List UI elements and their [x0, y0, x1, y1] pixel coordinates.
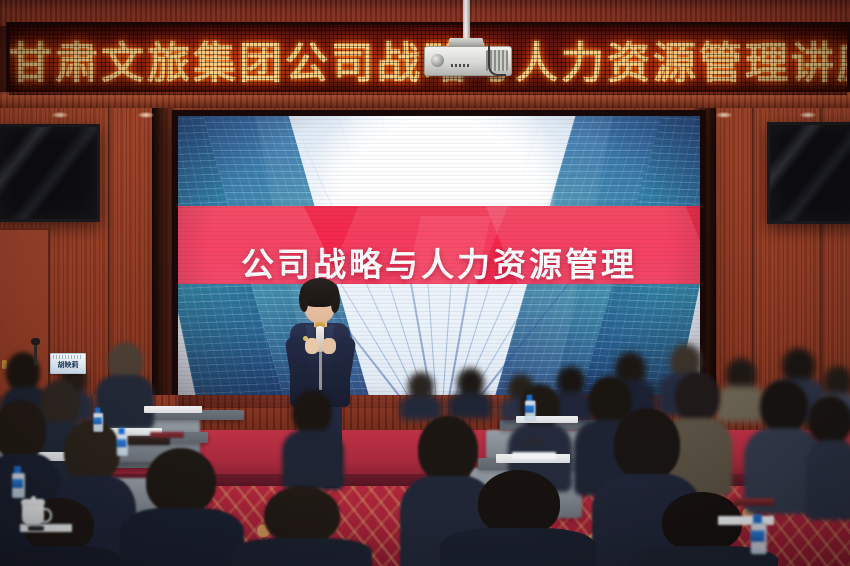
wall-monitor-left — [0, 124, 100, 222]
notebook — [150, 432, 184, 438]
audience-member — [96, 342, 154, 426]
wall-monitor-right — [767, 122, 850, 224]
ceiling-light — [800, 112, 816, 118]
audience-head — [782, 348, 815, 383]
name-card-header — [53, 355, 83, 359]
water-bottle — [12, 466, 23, 496]
audience-body — [440, 528, 596, 566]
audience-head — [614, 408, 680, 480]
ceiling-light — [52, 112, 68, 118]
presenter-hair-side — [331, 290, 340, 313]
audience-member — [806, 396, 850, 516]
teacup-body — [22, 503, 44, 525]
projector-cable — [488, 44, 506, 76]
audience-head — [0, 400, 46, 460]
audience-member — [232, 486, 372, 566]
presenter-hand — [322, 338, 336, 354]
table-microphone — [34, 343, 37, 365]
water-bottle — [525, 395, 534, 420]
water-bottle — [751, 514, 765, 552]
screen-left-shadow — [152, 108, 174, 428]
water-bottle — [117, 428, 127, 454]
audience-body — [282, 430, 344, 490]
audience-member — [400, 372, 442, 418]
monitor-glare — [0, 127, 97, 219]
audience-member — [440, 470, 596, 566]
bottle-label — [93, 417, 101, 424]
audience-head — [478, 470, 560, 536]
notebook — [734, 498, 774, 506]
audience-body — [0, 546, 120, 566]
presenter-hair-side — [299, 290, 308, 312]
phone — [524, 438, 542, 444]
name-card-text: 胡映莉 — [51, 360, 85, 370]
monitor-glare — [770, 125, 850, 221]
bottle-label — [117, 439, 127, 447]
paper-sheet — [512, 452, 556, 459]
projector-indicator-lights — [451, 64, 469, 67]
water-bottle — [93, 408, 101, 431]
audience-head — [824, 366, 850, 396]
bottle-label — [12, 479, 23, 488]
desk-pad — [144, 406, 202, 413]
slide-title-text: 公司战略与人力资源管理 — [178, 238, 700, 286]
audience-member — [0, 498, 120, 566]
presenter-lanyard — [319, 348, 322, 390]
audience-head — [64, 420, 120, 482]
conference-hall-photo: 甘肃文旅集团公司战略与人力资源管理讲座 — [0, 0, 850, 566]
teacup — [22, 498, 50, 528]
presenter-hand — [305, 338, 319, 354]
projector-lens — [431, 54, 444, 67]
audience-head — [264, 486, 340, 544]
audience-head — [292, 390, 332, 434]
audience-head — [808, 396, 850, 444]
audience-body — [806, 440, 850, 520]
ceiling-light — [716, 112, 732, 118]
teacup-knob — [31, 496, 36, 501]
audience-member — [448, 368, 492, 418]
ceiling-light — [138, 112, 154, 118]
audience-member — [282, 390, 344, 486]
audience-head — [146, 448, 216, 514]
audience-body — [232, 538, 372, 566]
bottle-label — [525, 405, 534, 412]
audience-body — [120, 508, 244, 566]
name-card: 胡映莉 — [50, 353, 86, 374]
audience-member — [120, 448, 244, 566]
bottle-label — [751, 531, 765, 542]
phone — [28, 526, 44, 531]
audience-head — [760, 380, 808, 432]
